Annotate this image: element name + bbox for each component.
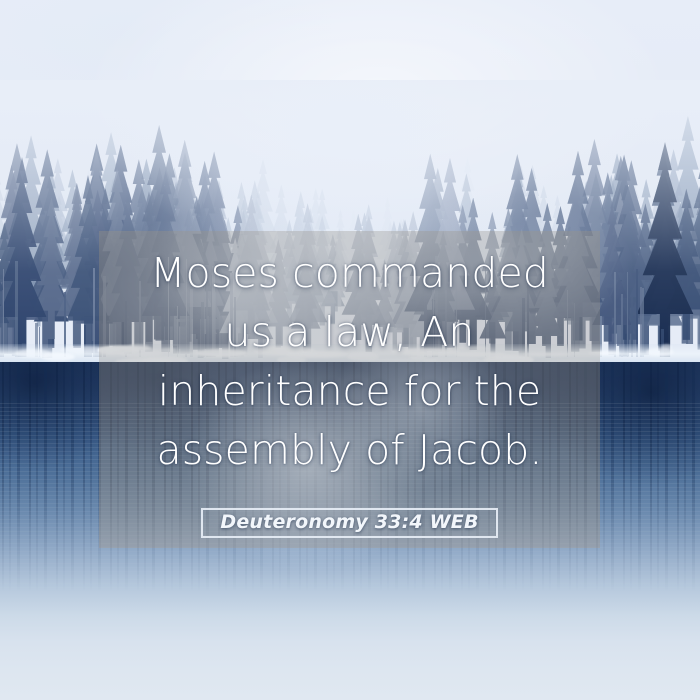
citation-box: Deuteronomy 33:4 WEB	[201, 508, 497, 538]
citation-wrap: Deuteronomy 33:4 WEB	[99, 508, 600, 538]
verse-text: Moses commanded us a law, An inheritance…	[105, 244, 594, 480]
citation-label: Deuteronomy 33:4 WEB	[220, 511, 478, 533]
verse-image-canvas: Moses commanded us a law, An inheritance…	[0, 0, 700, 700]
tree-trunk	[15, 261, 18, 357]
verse-block: Moses commanded us a law, An inheritance…	[99, 231, 600, 480]
snow-patch	[41, 353, 75, 361]
